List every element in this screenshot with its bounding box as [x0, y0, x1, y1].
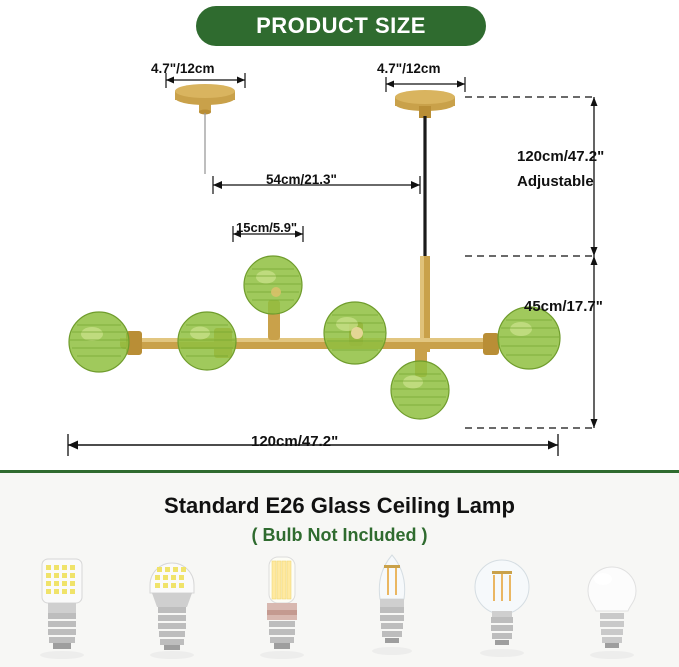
arm-span-dimension-label: 54cm/21.3"	[266, 172, 337, 187]
globe-2	[178, 312, 236, 370]
total-width-dimension-label: 120cm/47.2"	[251, 433, 338, 450]
globe-6	[498, 307, 560, 369]
bulb-section-title: Standard E26 Glass Ceiling Lamp	[0, 493, 679, 519]
bulb-gallery	[0, 551, 679, 667]
fixture-arm	[120, 300, 500, 377]
globe-5	[391, 361, 449, 419]
bulb-info-section: Standard E26 Glass Ceiling Lamp ( Bulb N…	[0, 470, 679, 667]
bulb-filament-globe	[452, 551, 552, 667]
drop-height-dimension-label: 120cm/47.2"	[517, 148, 604, 165]
bulb-led-chip-a19	[122, 551, 222, 667]
fixture-height-dimension-label: 45cm/17.7"	[524, 298, 603, 315]
canopy-left-dimension-label: 4.7"/12cm	[151, 61, 214, 76]
canopy-right-dimension	[386, 77, 465, 92]
canopy-right-dimension-label: 4.7"/12cm	[377, 61, 440, 76]
left-canopy	[175, 84, 235, 174]
bulb-led-corn	[232, 551, 332, 667]
bulb-frosted-a19	[562, 551, 662, 667]
dimension-drawing	[0, 0, 679, 470]
globe-1	[69, 312, 129, 372]
globe-4	[324, 302, 386, 364]
right-canopy	[395, 90, 455, 352]
fixture-height-dimension	[591, 256, 598, 428]
height-leader-lines	[465, 97, 592, 428]
bulb-filament-candle	[342, 551, 442, 667]
globe-3	[244, 256, 302, 314]
drop-height-adjustable-note: Adjustable	[517, 173, 594, 190]
product-size-sheet: PRODUCT SIZE	[0, 0, 679, 664]
bulb-section-subtitle: ( Bulb Not Included )	[0, 525, 679, 546]
bulb-led-chip-globe	[12, 551, 112, 667]
globe-gap-dimension-label: 15cm/5.9"	[236, 220, 297, 235]
